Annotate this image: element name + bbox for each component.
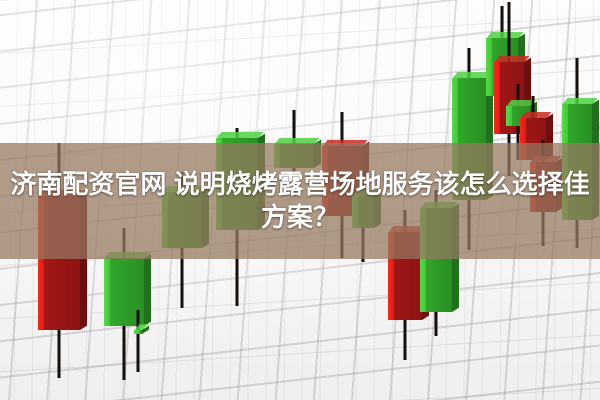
page-title-line-2: 方案？	[261, 201, 339, 234]
candle-left-highlight	[134, 330, 140, 334]
candle-left-highlight	[104, 258, 110, 326]
candle-side-face	[144, 254, 151, 326]
title-overlay-band: 济南配资官网 说明烧烤露营场地服务该怎么选择佳 方案？	[0, 143, 600, 259]
candle-left-highlight	[506, 106, 512, 126]
page-title-line-1: 济南配资官网 说明烧烤露营场地服务该怎么选择佳	[10, 168, 589, 201]
candle-left-highlight	[486, 38, 492, 96]
screenshot-root: 济南配资官网 说明烧烤露营场地服务该怎么选择佳 方案？	[0, 0, 600, 400]
candle-left-highlight	[494, 62, 500, 134]
candle-body	[134, 330, 142, 334]
candle-wick	[137, 310, 140, 372]
